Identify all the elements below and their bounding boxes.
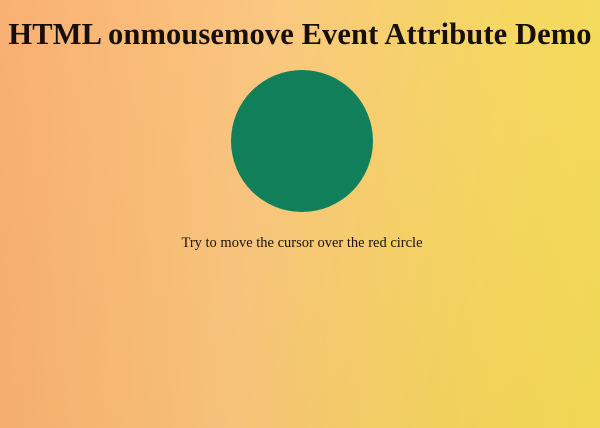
caption-container: Try to move the cursor over the red circ…	[0, 234, 600, 252]
page-title-bar: HTML onmousemove Event Attribute Demo	[0, 17, 600, 51]
circle-container	[0, 70, 600, 212]
instruction-caption: Try to move the cursor over the red circ…	[181, 234, 422, 252]
demo-stage: Try to move the cursor over the red circ…	[0, 70, 600, 212]
page-root: HTML onmousemove Event Attribute Demo Tr…	[0, 0, 600, 428]
green-circle[interactable]	[231, 70, 373, 212]
page-title: HTML onmousemove Event Attribute Demo	[8, 17, 591, 51]
